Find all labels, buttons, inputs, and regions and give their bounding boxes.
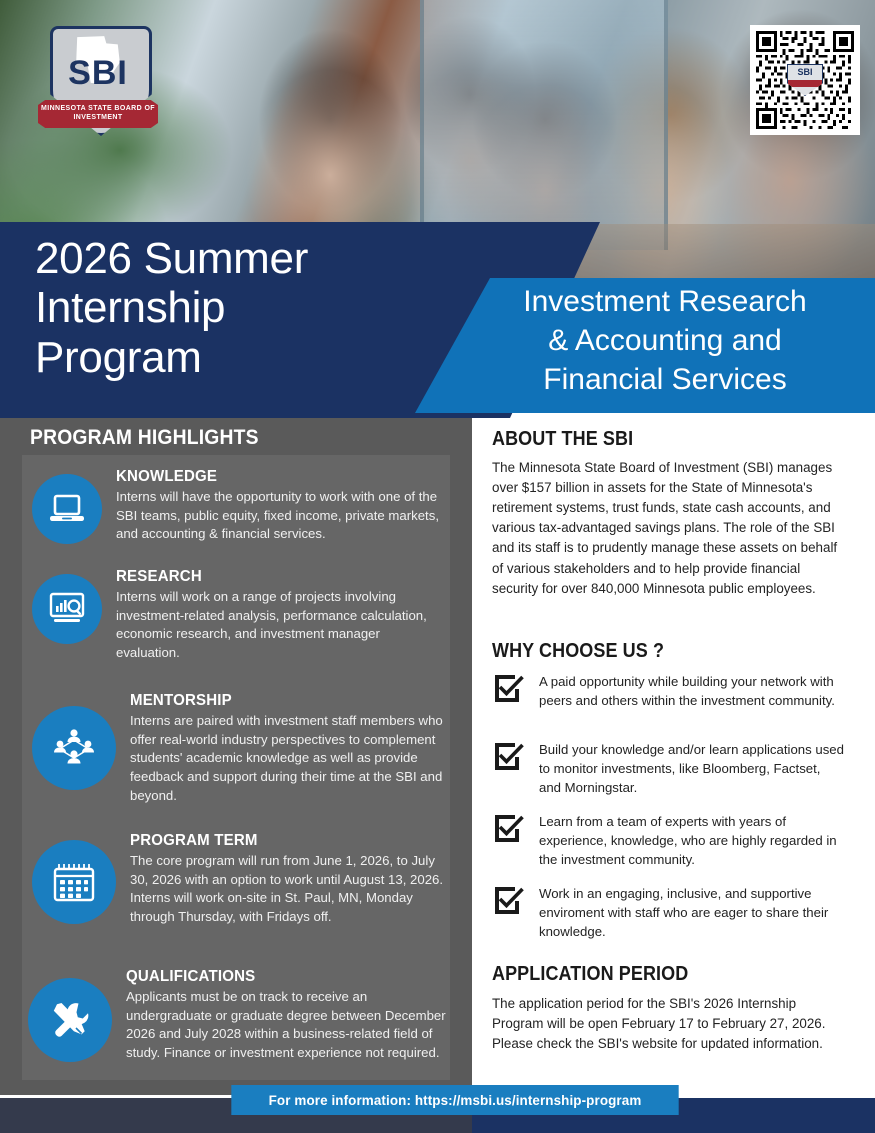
calendar-icon <box>32 840 116 924</box>
benefit-item: A paid opportunity while building your n… <box>492 672 844 710</box>
highlight-body: KNOWLEDGE Interns will have the opportun… <box>116 468 444 544</box>
logo-ribbon: MINNESOTA STATE BOARD OF INVESTMENT <box>38 100 158 128</box>
highlight-title: KNOWLEDGE <box>116 468 424 486</box>
qr-badge-text: SBI <box>788 65 822 79</box>
highlight-item-qualifications: QUALIFICATIONS Applicants must be on tra… <box>28 968 460 1063</box>
highlight-title: MENTORSHIP <box>130 692 433 710</box>
logo-acronym: SBI <box>50 54 146 93</box>
highlight-text: Interns will have the opportunity to wor… <box>116 488 444 544</box>
highlight-text: Applicants must be on track to receive a… <box>126 988 456 1063</box>
benefit-item: Work in an engaging, inclusive, and supp… <box>492 884 844 941</box>
laptop-icon <box>32 474 102 544</box>
highlight-text: The core program will run from June 1, 2… <box>130 852 455 927</box>
qr-code[interactable]: SBI <box>750 25 860 135</box>
title-line-1: 2026 Summer <box>35 234 435 283</box>
highlight-body: QUALIFICATIONS Applicants must be on tra… <box>126 968 456 1063</box>
program-highlights-heading: PROGRAM HIGHLIGHTS <box>30 426 259 450</box>
tools-icon <box>28 978 112 1062</box>
highlight-body: MENTORSHIP Interns are paired with inves… <box>130 692 452 806</box>
benefit-text: Work in an engaging, inclusive, and supp… <box>539 884 844 941</box>
checkbox-checked-icon <box>492 812 525 845</box>
title-line-3: Program <box>35 333 435 382</box>
page-subtitle: Investment Research & Accounting and Fin… <box>470 282 860 399</box>
highlight-item-mentorship: MENTORSHIP Interns are paired with inves… <box>32 692 452 806</box>
highlight-title: RESEARCH <box>116 568 424 586</box>
title-line-2: Internship <box>35 283 435 332</box>
more-information-link[interactable]: For more information: https://msbi.us/in… <box>231 1085 678 1115</box>
sbi-logo: SBI MINNESOTA STATE BOARD OF INVESTMENT <box>38 26 158 138</box>
chart-search-icon <box>32 574 102 644</box>
highlight-item-research: RESEARCH Interns will work on a range of… <box>32 568 452 663</box>
qr-canvas: SBI <box>756 31 854 129</box>
about-heading: ABOUT THE SBI <box>492 428 633 451</box>
benefit-text: A paid opportunity while building your n… <box>539 672 844 710</box>
benefit-text: Learn from a team of experts with years … <box>539 812 844 869</box>
subtitle-line-2: & Accounting and <box>470 321 860 360</box>
subtitle-line-1: Investment Research <box>470 282 860 321</box>
highlight-title: QUALIFICATIONS <box>126 968 436 986</box>
highlight-item-program-term: PROGRAM TERM The core program will run f… <box>32 832 457 927</box>
checkbox-checked-icon <box>492 884 525 917</box>
benefit-item: Learn from a team of experts with years … <box>492 812 844 869</box>
people-network-icon <box>32 706 116 790</box>
application-period-body: The application period for the SBI's 202… <box>492 994 848 1054</box>
highlight-item-knowledge: KNOWLEDGE Interns will have the opportun… <box>32 468 452 544</box>
highlight-body: PROGRAM TERM The core program will run f… <box>130 832 455 927</box>
highlight-text: Interns are paired with investment staff… <box>130 712 452 806</box>
poster-root: SBI MINNESOTA STATE BOARD OF INVESTMENT <box>0 0 875 1133</box>
why-choose-us-heading: WHY CHOOSE US ? <box>492 640 664 663</box>
page-title: 2026 Summer Internship Program <box>35 234 435 382</box>
subtitle-line-3: Financial Services <box>470 360 860 399</box>
window-decor <box>420 0 668 250</box>
highlight-body: RESEARCH Interns will work on a range of… <box>116 568 444 663</box>
about-body: The Minnesota State Board of Investment … <box>492 458 844 599</box>
benefit-item: Build your knowledge and/or learn applic… <box>492 740 844 797</box>
benefit-text: Build your knowledge and/or learn applic… <box>539 740 844 797</box>
highlight-title: PROGRAM TERM <box>130 832 436 850</box>
highlight-text: Interns will work on a range of projects… <box>116 588 444 663</box>
qr-badge-ribbon <box>788 80 822 87</box>
checkbox-checked-icon <box>492 672 525 705</box>
logo-ribbon-line1: MINNESOTA STATE BOARD <box>41 105 142 112</box>
application-period-heading: APPLICATION PERIOD <box>492 963 688 986</box>
checkbox-checked-icon <box>492 740 525 773</box>
